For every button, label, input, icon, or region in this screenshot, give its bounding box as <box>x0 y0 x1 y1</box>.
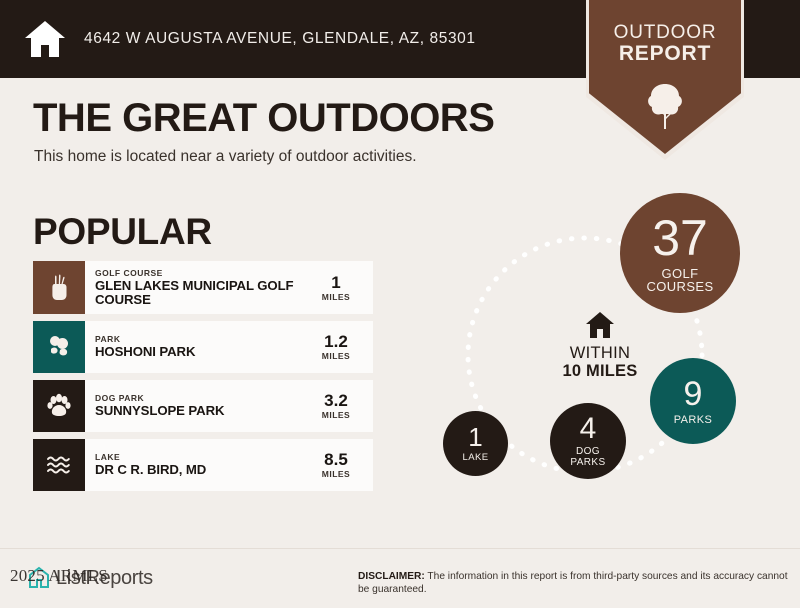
list-item-name: GLEN LAKES MUNICIPAL GOLF COURSE <box>95 279 305 308</box>
list-item-name: DR C R. BIRD, MD <box>95 463 305 478</box>
list-item-distance: 1 MILES <box>305 261 373 314</box>
list-item-text: LAKE DR C R. BIRD, MD <box>85 439 305 491</box>
distance-unit: MILES <box>322 351 350 361</box>
distance-value: 1.2 <box>324 333 348 351</box>
within-10-miles-diagram: WITHIN 10 MILES 37 GOLF COURSES 9 PARKS … <box>400 178 800 538</box>
stat-count: 4 <box>580 414 597 444</box>
stat-circle-parks[interactable]: 9 PARKS <box>650 358 736 444</box>
badge-line-2: REPORT <box>578 43 752 64</box>
water-waves-icon <box>44 450 74 480</box>
stat-circle-dog-parks[interactable]: 4 DOG PARKS <box>550 403 626 479</box>
golf-bag-icon <box>44 273 74 303</box>
park-trees-icon <box>44 332 74 362</box>
stat-count: 37 <box>652 213 708 263</box>
list-item[interactable]: DOG PARK SUNNYSLOPE PARK 3.2 MILES <box>33 380 373 432</box>
list-item-icon-tile <box>33 439 85 491</box>
stat-label-line2: PARKS <box>570 457 605 468</box>
distance-unit: MILES <box>322 410 350 420</box>
outdoor-report-page: 4642 W AUGUSTA AVENUE, GLENDALE, AZ, 853… <box>0 0 800 608</box>
list-item-text: DOG PARK SUNNYSLOPE PARK <box>85 380 305 432</box>
popular-list: GOLF COURSE GLEN LAKES MUNICIPAL GOLF CO… <box>33 261 373 498</box>
popular-heading: POPULAR <box>33 211 212 253</box>
listreports-logo-text: ListReports <box>56 567 153 590</box>
distance-value: 3.2 <box>324 392 348 410</box>
distance-value: 1 <box>331 274 340 292</box>
paw-print-icon <box>44 391 74 421</box>
list-item-distance: 3.2 MILES <box>305 380 373 432</box>
stat-label: PARKS <box>674 414 712 426</box>
home-icon <box>525 311 675 339</box>
header-address-group: 4642 W AUGUSTA AVENUE, GLENDALE, AZ, 853… <box>24 0 476 78</box>
miles-label: 10 MILES <box>525 362 675 381</box>
stat-label: LAKE <box>463 452 489 464</box>
badge-line-1: OUTDOOR <box>578 22 752 43</box>
list-item-distance: 1.2 MILES <box>305 321 373 373</box>
list-item[interactable]: PARK HOSHONI PARK 1.2 MILES <box>33 321 373 373</box>
stat-count: 1 <box>468 424 482 450</box>
badge-text: OUTDOOR REPORT <box>578 22 752 64</box>
page-title: THE GREAT OUTDOORS <box>33 96 494 141</box>
stat-circle-golf-courses[interactable]: 37 GOLF COURSES <box>620 193 740 313</box>
distance-unit: MILES <box>322 469 350 479</box>
list-item-icon-tile <box>33 321 85 373</box>
stat-circle-lake[interactable]: 1 LAKE <box>443 411 508 476</box>
stat-label-line2: COURSES <box>646 279 713 294</box>
list-item-icon-tile <box>33 380 85 432</box>
list-item[interactable]: GOLF COURSE GLEN LAKES MUNICIPAL GOLF CO… <box>33 261 373 314</box>
list-item-name: SUNNYSLOPE PARK <box>95 404 305 419</box>
stat-label: GOLF COURSES <box>646 267 713 294</box>
diagram-center-label: WITHIN 10 MILES <box>525 311 675 381</box>
disclaimer: DISCLAIMER: The information in this repo… <box>358 570 788 596</box>
list-item-text: GOLF COURSE GLEN LAKES MUNICIPAL GOLF CO… <box>85 261 305 314</box>
list-item-category: GOLF COURSE <box>95 268 305 279</box>
footer-divider <box>0 548 800 549</box>
distance-unit: MILES <box>322 292 350 302</box>
stat-count: 9 <box>684 377 703 411</box>
page-subtitle: This home is located near a variety of o… <box>34 148 417 166</box>
disclaimer-label: DISCLAIMER: <box>358 571 425 582</box>
within-label: WITHIN <box>525 344 675 362</box>
list-item-name: HOSHONI PARK <box>95 345 305 360</box>
list-item-text: PARK HOSHONI PARK <box>85 321 305 373</box>
list-item[interactable]: LAKE DR C R. BIRD, MD 8.5 MILES <box>33 439 373 491</box>
distance-value: 8.5 <box>324 451 348 469</box>
stat-label-line1: DOG <box>576 446 600 457</box>
property-address: 4642 W AUGUSTA AVENUE, GLENDALE, AZ, 853… <box>84 30 476 48</box>
list-item-icon-tile <box>33 261 85 314</box>
home-icon <box>24 19 66 59</box>
listreports-logo-icon <box>28 566 50 590</box>
listreports-logo[interactable]: ListReports <box>28 566 153 590</box>
stat-label: DOG PARKS <box>570 446 605 468</box>
list-item-distance: 8.5 MILES <box>305 439 373 491</box>
